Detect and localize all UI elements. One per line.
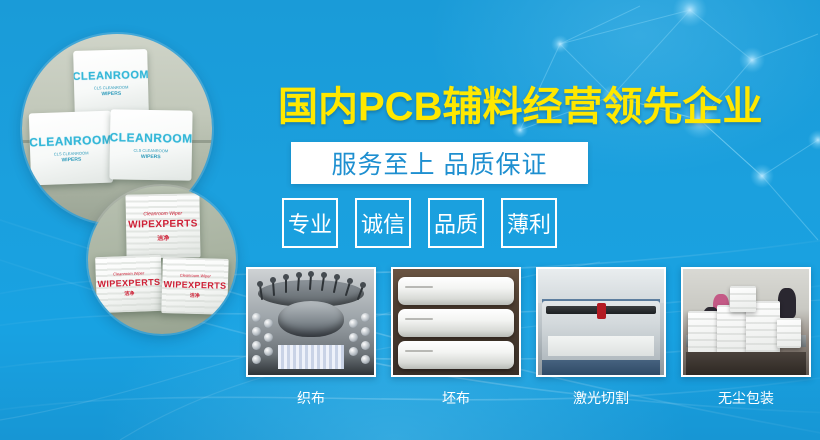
package-subline-2: WIPERS	[141, 153, 161, 159]
product-photo-wipexperts-bales: Cleanroom Wiper WIPEXPERTS 洁净 Cleanroom …	[88, 186, 236, 334]
photo-caption: 激光切割	[573, 388, 629, 408]
worker-figure	[778, 288, 796, 318]
process-photo-cleanroom-packaging: 无尘包装	[681, 267, 811, 408]
package-subline-1: CLS CLEANROOM	[134, 147, 169, 153]
photo-caption: 织布	[297, 388, 325, 408]
package-subline-2: WIPERS	[101, 90, 121, 97]
feature-tag-integrity: 诚信	[355, 198, 411, 248]
package-brand: CLEANROOM	[109, 130, 192, 145]
feature-tag-professional: 专业	[282, 198, 338, 248]
bale-brand: WIPEXPERTS	[97, 277, 160, 289]
bale-mark: 洁净	[190, 292, 200, 299]
photo-frame	[391, 267, 521, 377]
bale-mark: 洁净	[124, 290, 134, 297]
bale-top-text: Cleanroom Wiper	[143, 210, 182, 217]
package-brand: CLEANROOM	[73, 69, 149, 83]
wipexperts-bale: Cleanroom Wiper WIPEXPERTS 洁净	[95, 255, 163, 313]
photo-caption: 坯布	[442, 388, 470, 408]
table-legs	[686, 352, 807, 375]
laser-cutting-scene	[538, 269, 664, 375]
bale-top-text: Cleanroom Wiper	[180, 273, 211, 279]
wipexperts-bale: Cleanroom Wiper WIPEXPERTS 洁净	[125, 193, 200, 258]
feature-tag-list: 专业 诚信 品质 薄利	[282, 198, 557, 248]
tag-label: 品质	[434, 207, 478, 239]
bale-top-text: Cleanroom Wiper	[113, 270, 144, 276]
subtitle-bar: 服务至上 品质保证	[291, 142, 588, 184]
packaging-room-scene	[683, 269, 809, 375]
packed-stack	[717, 305, 749, 353]
laser-head	[597, 303, 606, 319]
package-subline-1: CLS CLEANROOM	[54, 150, 89, 156]
banner-headline: 国内PCB辅料经营领先企业	[278, 74, 762, 132]
cleanroom-package: CLEANROOM CLS CLEANROOM WIPERS	[109, 109, 192, 180]
fabric-roll	[398, 309, 514, 337]
tag-label: 专业	[288, 207, 332, 239]
package-subline-2: WIPERS	[61, 156, 81, 163]
cleanroom-package: CLEANROOM CLS CLEANROOM WIPERS	[29, 111, 113, 186]
photo-frame	[536, 267, 666, 377]
wipexperts-bale: Cleanroom Wiper WIPEXPERTS 洁净	[161, 257, 228, 315]
process-photo-laser-cutting: 激光切割	[536, 267, 666, 408]
cleanroom-package: CLEANROOM CLS CLEANROOM WIPERS	[73, 49, 149, 117]
cutting-bed	[548, 336, 655, 356]
fabric-roll	[398, 277, 514, 305]
tag-label: 薄利	[507, 207, 551, 239]
feature-tag-quality: 品质	[428, 198, 484, 248]
subtitle-text: 服务至上 品质保证	[332, 145, 548, 181]
bale-brand: WIPEXPERTS	[128, 218, 198, 230]
photo-frame	[246, 267, 376, 377]
photo-caption: 无尘包装	[718, 388, 774, 408]
promo-banner: CLEANROOM CLS CLEANROOM WIPERS CLEANROOM…	[0, 0, 820, 440]
package-brand: CLEANROOM	[29, 132, 113, 149]
photo-frame	[681, 267, 811, 377]
bale-mark: 洁净	[157, 232, 169, 241]
packed-stack	[730, 286, 756, 312]
fabric-rolls-scene	[393, 269, 519, 375]
packed-stack	[688, 311, 718, 353]
packed-stack	[777, 318, 801, 348]
package-subline-1: CLS CLEANROOM	[94, 84, 129, 90]
process-photo-weaving: 织布	[246, 267, 376, 408]
machine-base	[542, 360, 660, 375]
fabric-roll	[398, 341, 514, 369]
process-photo-strip: 织布 坯布	[246, 267, 811, 408]
tag-label: 诚信	[361, 207, 405, 239]
bale-brand: WIPEXPERTS	[163, 279, 226, 291]
knitting-machine-scene	[248, 269, 374, 375]
process-photo-greige-fabric: 坯布	[391, 267, 521, 408]
feature-tag-low-margin: 薄利	[501, 198, 557, 248]
